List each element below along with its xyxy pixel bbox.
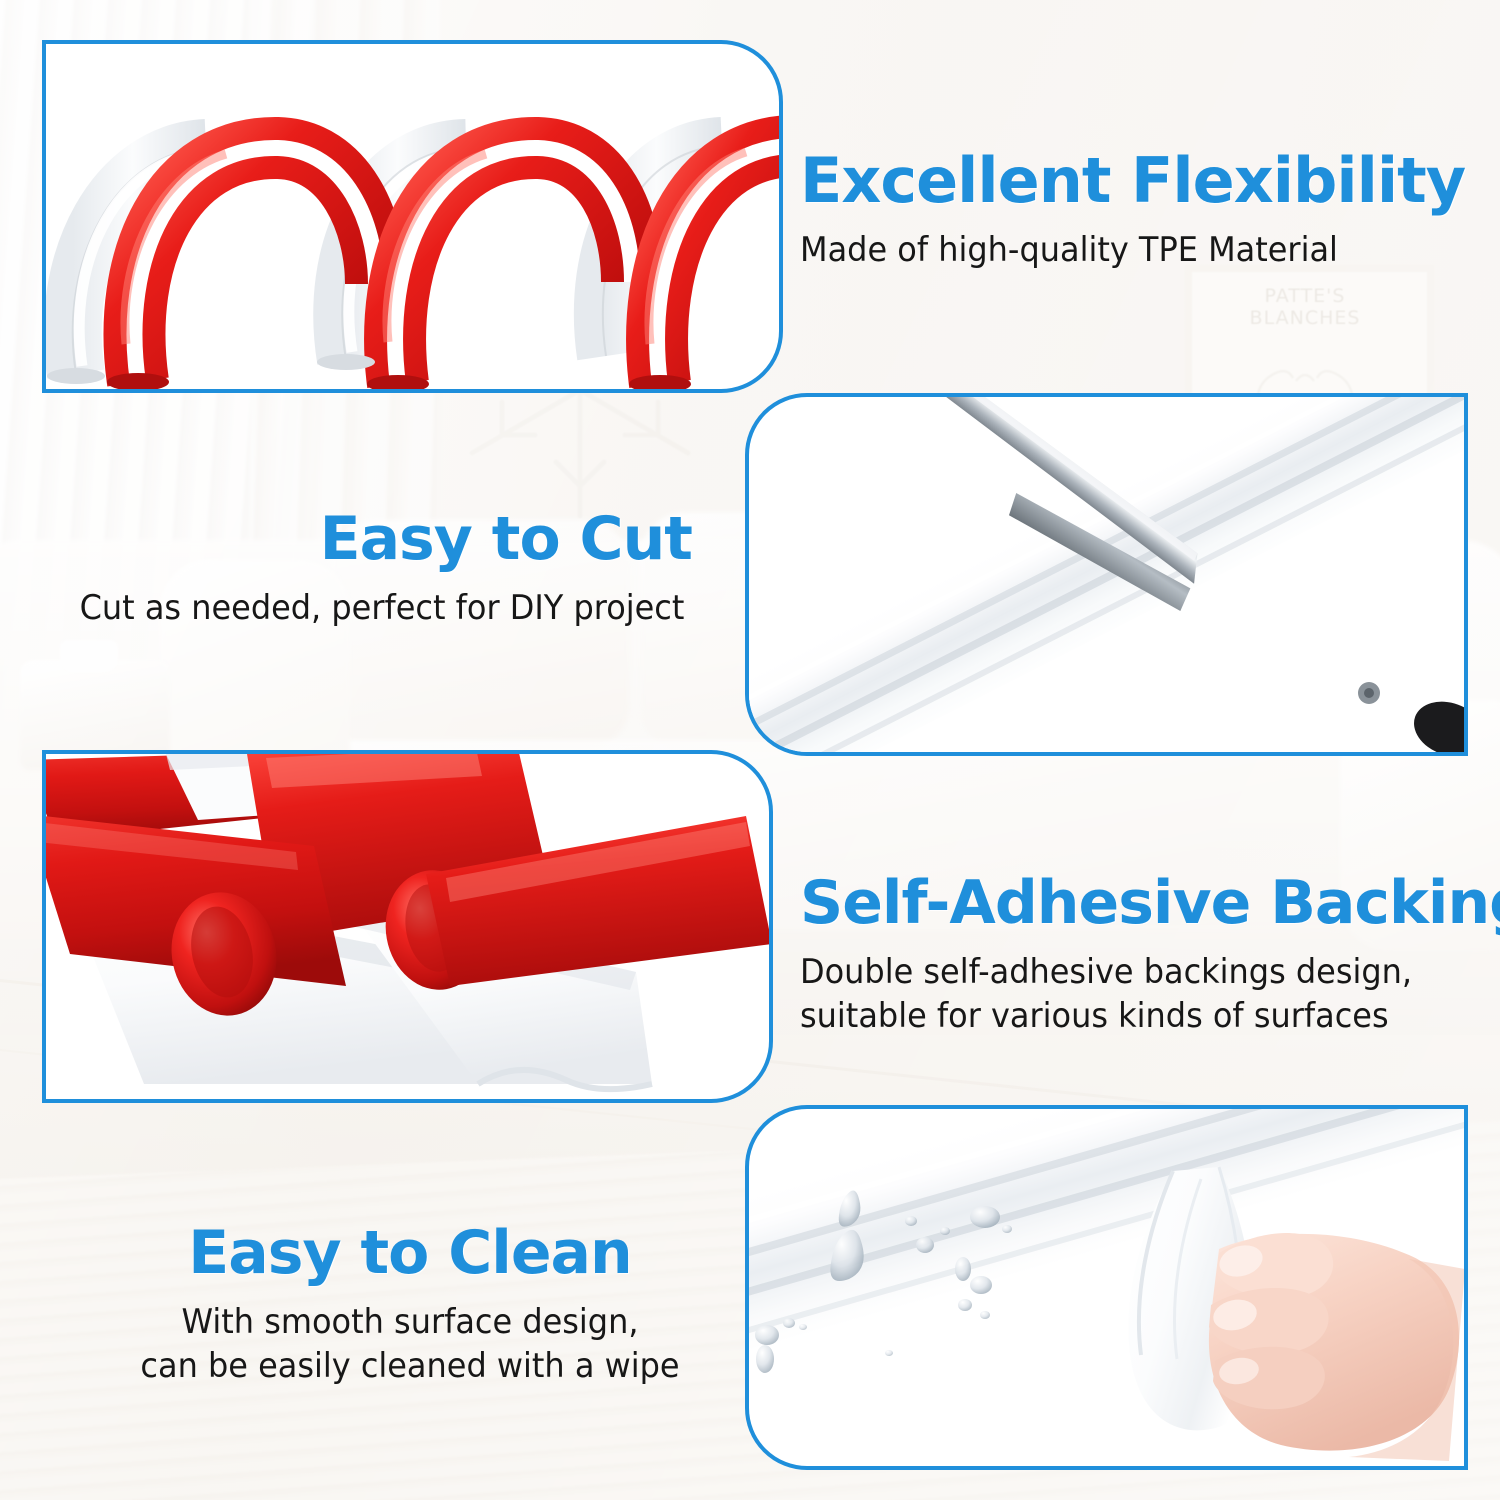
subline-adhesive-line-2: suitable for various kinds of surfaces: [800, 994, 1420, 1039]
feature-text-clean: Easy to Clean With smooth surface design…: [110, 1222, 710, 1389]
subline-adhesive-line-1: Double self-adhesive backings design,: [800, 950, 1420, 995]
headline-cut: Easy to Cut: [52, 508, 712, 572]
headline-flexibility: Excellent Flexibility: [800, 148, 1465, 214]
feature-photo-adhesive: [42, 750, 773, 1103]
subline-adhesive: Double self-adhesive backings design, su…: [800, 950, 1420, 1040]
feature-photo-cut: [745, 393, 1468, 756]
feature-text-cut: Easy to Cut Cut as needed, perfect for D…: [52, 508, 712, 630]
subline-cut: Cut as needed, perfect for DIY project: [72, 586, 692, 631]
adhesive-backing-illustration: [46, 754, 769, 1099]
feature-photo-clean: [745, 1105, 1468, 1470]
headline-clean: Easy to Clean: [110, 1222, 710, 1286]
feature-photo-flexibility: [42, 40, 783, 393]
scissors-cutting-illustration: [749, 397, 1464, 752]
feature-text-flexibility: Excellent Flexibility Made of high-quali…: [800, 148, 1465, 273]
subline-clean: With smooth surface design, can be easil…: [128, 1300, 692, 1390]
subline-flexibility: Made of high-quality TPE Material: [800, 228, 1425, 273]
feature-text-adhesive: Self-Adhesive Backing Double self-adhesi…: [800, 872, 1460, 1039]
subline-clean-line-2: can be easily cleaned with a wipe: [128, 1344, 692, 1389]
coiled-tpe-strip-illustration: [46, 44, 779, 389]
wipe-cleaning-illustration: [749, 1109, 1464, 1466]
subline-clean-line-1: With smooth surface design,: [128, 1300, 692, 1345]
subline-flexibility-line-1: Made of high-quality TPE Material: [800, 228, 1425, 273]
subline-cut-line-1: Cut as needed, perfect for DIY project: [72, 586, 692, 631]
headline-adhesive: Self-Adhesive Backing: [800, 872, 1460, 936]
